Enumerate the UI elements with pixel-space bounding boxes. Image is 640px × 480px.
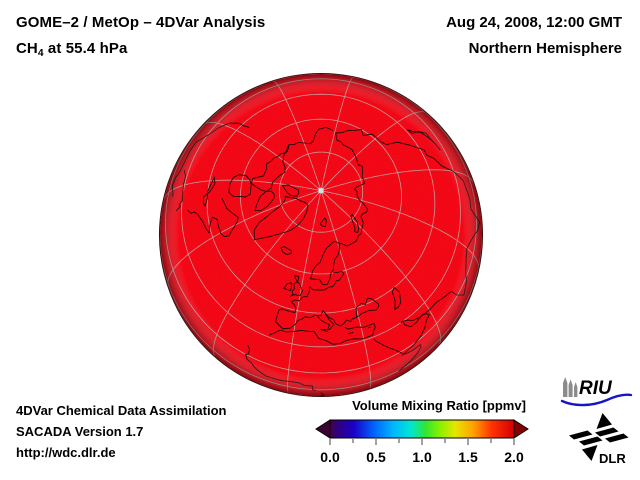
colorbar-block: Volume Mixing Ratio [ppmv] 0.00.51.01.52…: [300, 398, 550, 470]
colorbar-tick-label: 1.0: [412, 449, 432, 465]
species-formula: CH: [16, 40, 38, 57]
colorbar-ramp: [316, 420, 528, 438]
figure-title: GOME–2 / MetOp – 4DVar Analysis: [16, 14, 265, 31]
pressure-level: at 55.4 hPa: [44, 40, 128, 57]
colorbar-tick-label: 0.0: [320, 449, 340, 465]
riu-logo-svg: RIU: [559, 374, 633, 408]
dlr-wordmark: DLR: [599, 451, 626, 466]
credit-line-1: 4DVar Chemical Data Assimilation: [16, 400, 227, 421]
colorbar-ticks: [330, 439, 514, 445]
colorbar-svg: 0.00.51.01.52.0: [300, 418, 550, 470]
dlr-logo: DLR: [566, 412, 632, 466]
riu-towers-icon: [563, 377, 577, 397]
header-left: GOME–2 / MetOp – 4DVar Analysis CH4 at 5…: [16, 14, 265, 57]
north-pole-marker: [319, 188, 324, 193]
globe-svg: [158, 72, 484, 398]
colorbar-tick-labels: 0.00.51.01.52.0: [320, 449, 524, 465]
region-label: Northern Hemisphere: [446, 40, 622, 57]
timestamp-label: Aug 24, 2008, 12:00 GMT: [446, 14, 622, 31]
colorbar-tick-label: 0.5: [366, 449, 386, 465]
figure-root: GOME–2 / MetOp – 4DVar Analysis CH4 at 5…: [0, 0, 640, 480]
globe-map: [158, 72, 484, 398]
riu-logo: RIU: [559, 374, 633, 408]
header-right: Aug 24, 2008, 12:00 GMT Northern Hemisph…: [446, 14, 622, 57]
dlr-logo-svg: DLR: [566, 412, 632, 466]
credit-url[interactable]: http://wdc.dlr.de: [16, 442, 227, 463]
riu-wordmark: RIU: [579, 378, 613, 399]
footer-credits: 4DVar Chemical Data Assimilation SACADA …: [16, 400, 227, 463]
colorbar-tick-label: 1.5: [458, 449, 478, 465]
colorbar-tick-label: 2.0: [504, 449, 524, 465]
species-subscript: 4: [38, 48, 44, 59]
species-level-label: CH4 at 55.4 hPa: [16, 40, 265, 57]
limb-shading: [160, 74, 482, 396]
credit-line-2: SACADA Version 1.7: [16, 421, 227, 442]
colorbar-title: Volume Mixing Ratio [ppmv]: [314, 398, 564, 413]
